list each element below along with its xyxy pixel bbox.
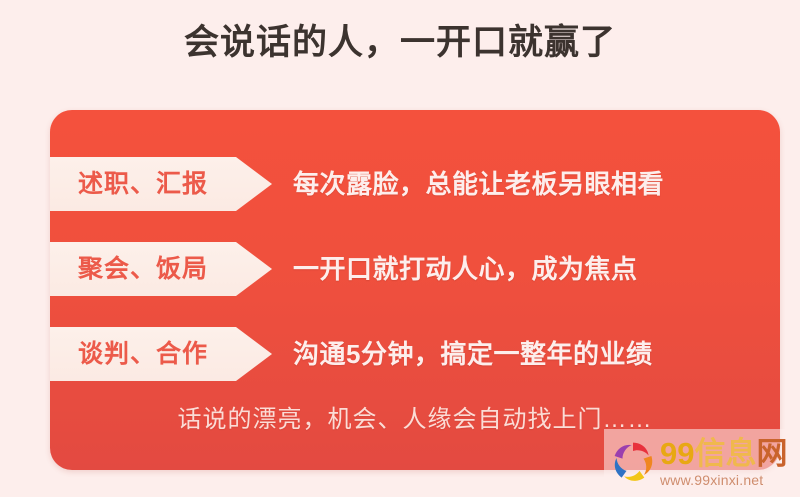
offer-card: 述职、汇报 每次露脸，总能让老板另眼相看 聚会、饭局 一开口就打动人心，成为焦点… (50, 110, 780, 470)
benefit-row: 谈判、合作 沟通5分钟，搞定一整年的业绩 (50, 327, 780, 381)
scenario-tag-3: 谈判、合作 (50, 327, 272, 381)
benefit-text: 沟通5分钟，搞定一整年的业绩 (293, 327, 652, 381)
watermark-brand: 99信息网 (660, 438, 787, 469)
scenario-tag-label: 谈判、合作 (50, 327, 236, 381)
benefit-row: 聚会、饭局 一开口就打动人心，成为焦点 (50, 242, 780, 296)
watermark-brand-suffix: 网 (756, 436, 787, 471)
watermark: 99信息网 www.99xinxi.net (604, 429, 796, 495)
scenario-tag-1: 述职、汇报 (50, 157, 272, 211)
watermark-url: www.99xinxi.net (660, 473, 787, 487)
pinwheel-swirl-icon (610, 439, 656, 485)
poster-canvas: 会说话的人，一开口就赢了 述职、汇报 每次露脸，总能让老板另眼相看 聚会、饭局 … (0, 0, 800, 497)
page-title: 会说话的人，一开口就赢了 (0, 19, 800, 67)
benefit-text: 每次露脸，总能让老板另眼相看 (293, 157, 664, 211)
scenario-tag-label: 聚会、饭局 (50, 242, 236, 296)
watermark-brand-name: 信息 (694, 436, 756, 471)
watermark-text: 99信息网 www.99xinxi.net (660, 438, 787, 487)
watermark-brand-number: 99 (660, 436, 694, 471)
scenario-tag-2: 聚会、饭局 (50, 242, 272, 296)
benefit-text: 一开口就打动人心，成为焦点 (293, 242, 638, 296)
scenario-tag-label: 述职、汇报 (50, 157, 236, 211)
benefit-row: 述职、汇报 每次露脸，总能让老板另眼相看 (50, 157, 780, 211)
